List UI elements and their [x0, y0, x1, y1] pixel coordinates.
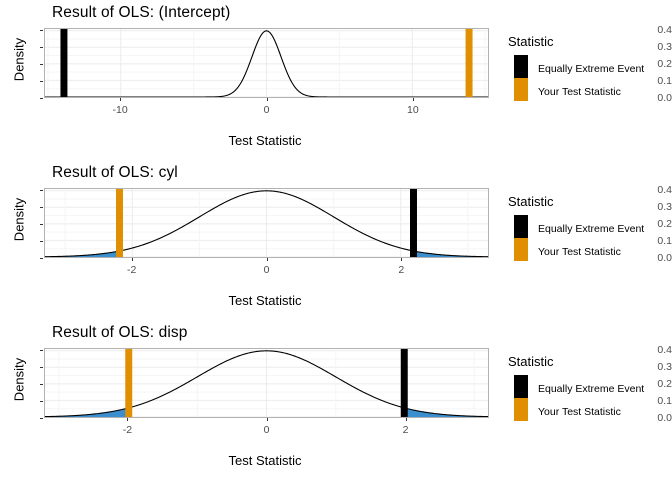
plot-area — [44, 188, 489, 258]
x-axis-label: Test Statistic — [40, 453, 490, 468]
marker-equally-extreme-event — [60, 29, 67, 97]
legend-title: Statistic — [508, 34, 554, 49]
x-tick-label: 2 — [403, 424, 409, 436]
y-tick-label: 0.0 — [638, 92, 672, 104]
x-tick-mark — [406, 418, 407, 421]
plot-area — [44, 348, 489, 418]
marker-your-test-statistic — [125, 349, 132, 417]
y-tick-label: 0.3 — [638, 201, 672, 213]
y-tick-label: 0.1 — [638, 395, 672, 407]
x-tick-label: -10 — [113, 104, 128, 116]
y-tick-mark — [40, 367, 43, 368]
legend-title: Statistic — [508, 194, 554, 209]
legend-label: Equally Extreme Event — [538, 383, 644, 395]
chart-panel: Result of OLS: dispDensityTest Statistic… — [0, 320, 672, 480]
y-tick-mark — [40, 207, 43, 208]
x-tick-mark — [267, 418, 268, 421]
panel-title: Result of OLS: cyl — [52, 164, 178, 182]
chart-panel: Result of OLS: cylDensityTest Statistic0… — [0, 160, 672, 320]
x-tick-mark — [120, 98, 121, 101]
x-tick-label: -2 — [127, 264, 136, 276]
y-tick-label: 0.0 — [638, 252, 672, 264]
legend-label: Your Test Statistic — [538, 86, 621, 98]
x-tick-mark — [267, 98, 268, 101]
y-tick-mark — [40, 190, 43, 191]
x-tick-mark — [401, 258, 402, 261]
chart-panel: Result of OLS: (Intercept)DensityTest St… — [0, 0, 672, 160]
y-tick-mark — [40, 224, 43, 225]
x-tick-mark — [127, 418, 128, 421]
panel-title: Result of OLS: (Intercept) — [52, 4, 230, 22]
y-tick-mark — [40, 30, 43, 31]
y-tick-mark — [40, 350, 43, 351]
marker-your-test-statistic — [116, 189, 123, 257]
marker-equally-extreme-event — [401, 349, 408, 417]
x-tick-label: 0 — [264, 424, 270, 436]
legend-label: Your Test Statistic — [538, 406, 621, 418]
x-tick-label: 10 — [407, 104, 419, 116]
shaded-tail-region — [404, 408, 488, 417]
y-axis-label: Density — [12, 345, 27, 415]
y-tick-mark — [40, 401, 43, 402]
panel-title: Result of OLS: disp — [52, 324, 187, 342]
legend-label: Equally Extreme Event — [538, 223, 644, 235]
y-tick-label: 0.1 — [638, 235, 672, 247]
marker-your-test-statistic — [466, 29, 473, 97]
legend-label: Equally Extreme Event — [538, 63, 644, 75]
plot-area — [44, 28, 489, 98]
y-tick-label: 0.4 — [638, 344, 672, 356]
x-axis-label: Test Statistic — [40, 293, 490, 308]
y-tick-mark — [40, 258, 43, 259]
legend-key-swatches — [514, 375, 528, 421]
y-tick-label: 0.0 — [638, 412, 672, 424]
legend-key-swatches — [514, 55, 528, 101]
legend-key-your-test-statistic[interactable] — [514, 78, 528, 101]
x-tick-label: 2 — [398, 264, 404, 276]
y-tick-mark — [40, 81, 43, 82]
y-axis-label: Density — [12, 185, 27, 255]
x-tick-label: 0 — [264, 264, 270, 276]
legend-label: Your Test Statistic — [538, 246, 621, 258]
y-tick-mark — [40, 384, 43, 385]
y-tick-label: 0.1 — [638, 75, 672, 87]
y-tick-label: 0.3 — [638, 41, 672, 53]
legend-key-swatches — [514, 215, 528, 261]
y-tick-label: 0.4 — [638, 24, 672, 36]
legend-key-your-test-statistic[interactable] — [514, 398, 528, 421]
x-tick-label: -2 — [123, 424, 132, 436]
x-tick-label: 0 — [264, 104, 270, 116]
y-tick-mark — [40, 64, 43, 65]
y-axis-label: Density — [12, 25, 27, 95]
y-tick-mark — [40, 47, 43, 48]
x-axis-label: Test Statistic — [40, 133, 490, 148]
x-tick-mark — [267, 258, 268, 261]
legend-key-your-test-statistic[interactable] — [514, 238, 528, 261]
y-tick-label: 0.4 — [638, 184, 672, 196]
y-tick-mark — [40, 241, 43, 242]
legend-key-equally-extreme-event[interactable] — [514, 375, 528, 398]
y-tick-mark — [40, 98, 43, 99]
marker-equally-extreme-event — [410, 189, 417, 257]
x-tick-mark — [132, 258, 133, 261]
y-tick-mark — [40, 418, 43, 419]
legend-title: Statistic — [508, 354, 554, 369]
legend-key-equally-extreme-event[interactable] — [514, 215, 528, 238]
figure-root: Result of OLS: (Intercept)DensityTest St… — [0, 0, 672, 480]
x-tick-mark — [413, 98, 414, 101]
legend-key-equally-extreme-event[interactable] — [514, 55, 528, 78]
y-tick-label: 0.3 — [638, 361, 672, 373]
shaded-tail-region — [45, 408, 129, 417]
